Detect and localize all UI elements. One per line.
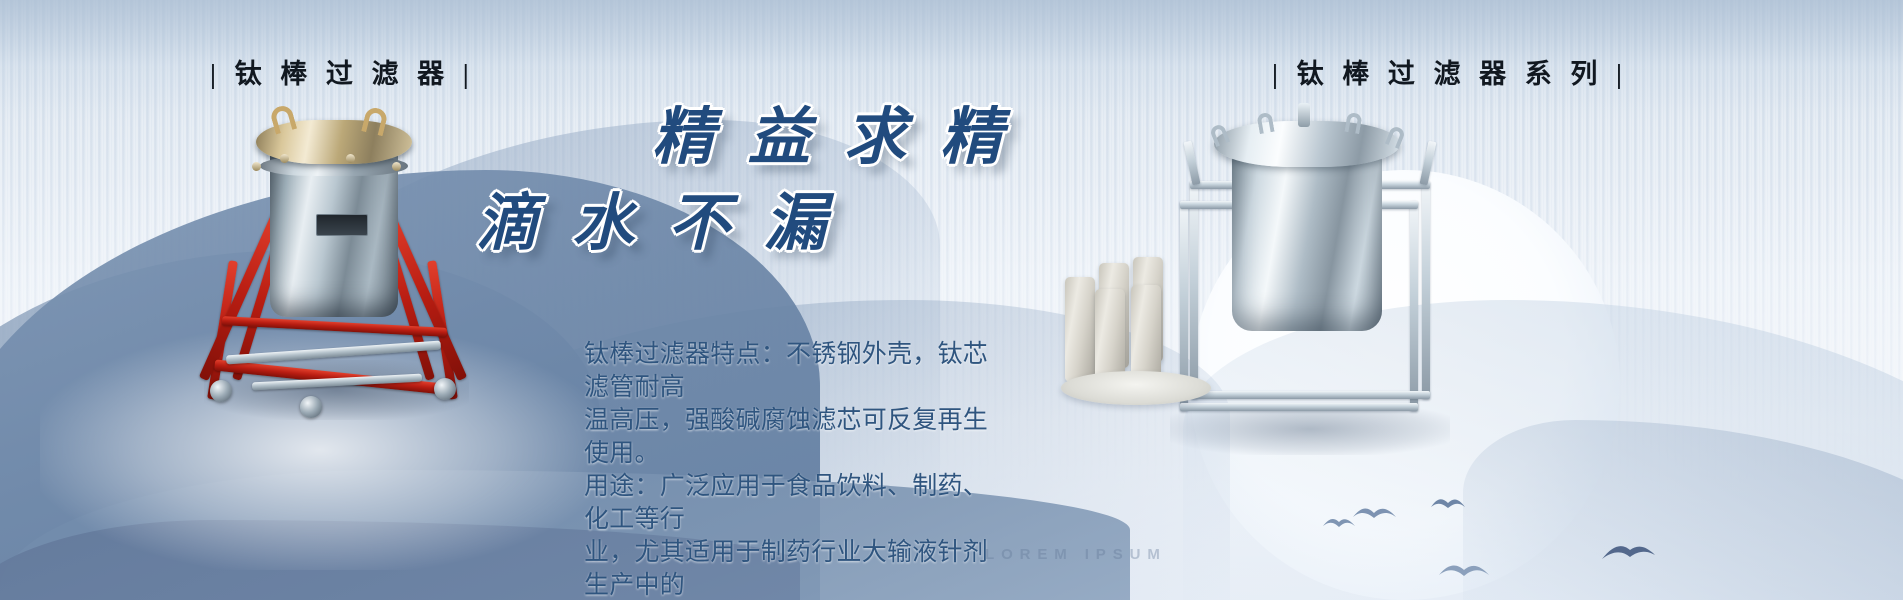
product-description: 钛棒过滤器特点：不锈钢外壳，钛芯滤管耐高 温高压，强酸碱腐蚀滤芯可反复再生使用。… <box>584 338 1004 600</box>
lid-bolt-1 <box>252 162 261 171</box>
lid-bolt-4 <box>392 162 401 171</box>
steel-frame-post-front-right <box>1410 201 1418 411</box>
caster-wheel-1 <box>210 380 232 402</box>
bird-silhouette-3 <box>1438 560 1490 580</box>
bird-silhouette-4 <box>1600 540 1656 562</box>
product-image-right-filter <box>1150 85 1470 475</box>
watermark-text: LOREM IPSUM <box>985 546 1167 563</box>
lid-bolt-3 <box>346 154 355 163</box>
slogan-line-1: 精 益 求 精 <box>652 86 1008 176</box>
product-image-left-filter <box>196 110 476 425</box>
description-line-2: 温高压，强酸碱腐蚀滤芯可反复再生使用。 <box>584 404 1004 470</box>
bird-silhouette-2 <box>1430 496 1466 511</box>
steel-frame-bottom-rail-back <box>1190 391 1430 399</box>
caster-wheel-2 <box>300 396 322 418</box>
lid-bolt-2 <box>280 154 289 163</box>
promotional-banner: | 钛 棒 过 滤 器 | | 钛 棒 过 滤 器 系 列 | 精 益 求 精 … <box>0 0 1903 600</box>
description-line-3: 用途：广泛应用于食品饮料、制药、化工等行 <box>584 470 1004 536</box>
steel-frame-bottom-rail-front <box>1180 403 1418 411</box>
bird-silhouette-1 <box>1352 504 1398 522</box>
caster-wheel-3 <box>434 378 456 400</box>
heading-left: | 钛 棒 过 滤 器 | <box>210 52 475 91</box>
lid-knob <box>1298 103 1310 127</box>
slogan-line-2: 滴 水 不 漏 <box>476 172 832 262</box>
heading-right: | 钛 棒 过 滤 器 系 列 | <box>1272 52 1628 91</box>
filter-vessel-body-right <box>1232 151 1382 331</box>
description-line-1: 钛棒过滤器特点：不锈钢外壳，钛芯滤管耐高 <box>584 338 1004 404</box>
cartridge-1 <box>1065 277 1095 382</box>
description-line-4: 业，尤其适用于制药行业大输液针剂生产中的 <box>584 536 1004 600</box>
filter-vessel-lid-right <box>1214 121 1400 167</box>
steel-frame-arm-right <box>1420 141 1437 186</box>
titanium-filter-cartridges <box>1055 255 1215 415</box>
steel-frame-post-back-right <box>1422 181 1430 399</box>
nameplate <box>316 214 368 236</box>
steel-frame-arm-left <box>1184 141 1201 186</box>
bird-silhouette-5 <box>1322 516 1356 530</box>
background-wave-right-edge <box>1463 420 1903 600</box>
cartridge-base-plate <box>1061 371 1211 405</box>
lid-clamp-2 <box>1256 112 1274 134</box>
